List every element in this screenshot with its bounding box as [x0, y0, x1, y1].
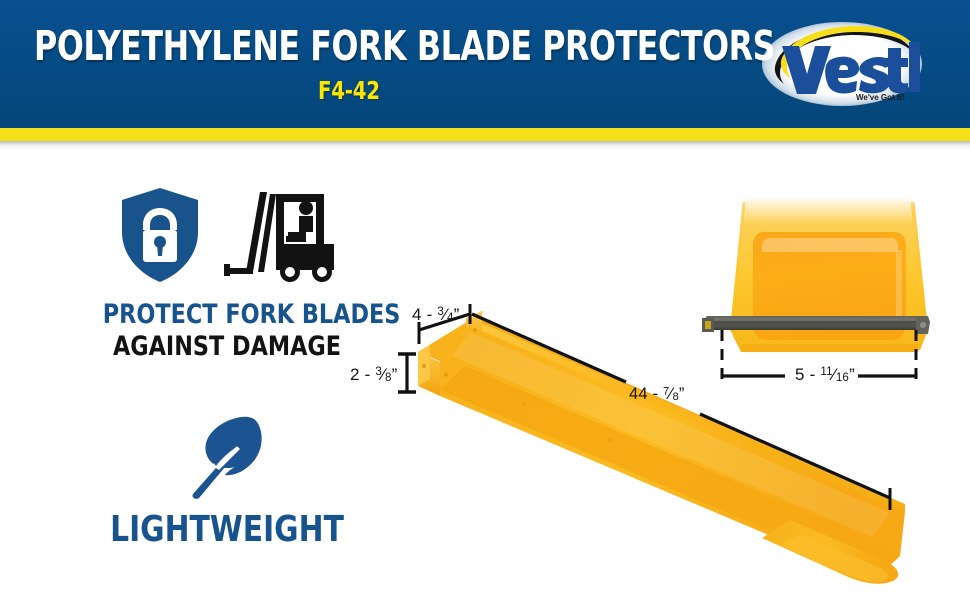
infographic-page: POLYETHYLENE FORK BLADE PROTECTORS F4-42…	[0, 0, 970, 600]
dimension-width-numerator: 3	[437, 306, 444, 318]
dimension-height-denominator: 8	[385, 372, 392, 384]
dimension-width-unit: ”	[454, 305, 460, 324]
iso-dimension-lines	[419, 304, 890, 510]
dimension-front-numerator: 11	[820, 366, 832, 378]
dimension-length-fraction: 7⁄8	[663, 385, 679, 404]
dimension-length-whole: 44 -	[629, 385, 663, 403]
height-dimension-line	[398, 354, 416, 392]
dimension-front-whole: 5 -	[795, 365, 820, 384]
dimension-front-fraction: 11⁄16	[820, 365, 849, 385]
feature-2-icons	[92, 408, 362, 500]
logo-artwork: We've Got It!	[762, 22, 922, 106]
dimension-front-unit: ”	[849, 365, 855, 384]
retaining-bar	[706, 316, 924, 330]
vestil-logo: We've Got It!	[762, 22, 922, 106]
feather-icon	[179, 412, 275, 500]
dimension-height-label: 2 - 3⁄8”	[350, 365, 398, 385]
dimension-length-denominator: 8	[672, 391, 678, 403]
page-header: POLYETHYLENE FORK BLADE PROTECTORS F4-42…	[0, 0, 970, 128]
feature-1-caption-line2: AGAINST DAMAGE	[103, 331, 351, 362]
forklift-icon	[220, 188, 336, 284]
dimension-length-unit: ”	[679, 385, 685, 403]
feature-1-caption-line1: PROTECT FORK BLADES	[103, 298, 351, 331]
logo-wordmark	[782, 42, 920, 94]
feature-1-icons	[92, 182, 362, 284]
model-number: F4-42	[318, 78, 380, 104]
dimension-height-unit: ”	[392, 365, 398, 384]
dimension-height-fraction: 3⁄8	[375, 365, 391, 385]
dimension-width-denominator: 4	[447, 312, 454, 324]
shield-lock-icon	[118, 186, 202, 284]
page-title: POLYETHYLENE FORK BLADE PROTECTORS	[34, 24, 636, 68]
dimension-width-fraction: 3⁄4	[437, 305, 453, 325]
dimension-front-denominator: 16	[836, 372, 849, 384]
feature-2-caption: LIGHTWEIGHT	[103, 510, 351, 550]
front-end-view	[702, 176, 932, 352]
dimension-height-numerator: 3	[375, 366, 382, 378]
feature-lightweight: LIGHTWEIGHT	[92, 408, 362, 550]
dimension-height-whole: 2 -	[350, 365, 375, 384]
header-shadow	[0, 141, 970, 150]
dimension-width-whole: 4 -	[412, 305, 437, 324]
dimension-length-label: 44 - 7⁄8”	[629, 385, 685, 404]
dimension-front-width-label: 5 - 11⁄16”	[795, 365, 855, 385]
header-accent-bar	[0, 128, 970, 141]
dimension-width-label: 4 - 3⁄4”	[412, 305, 460, 325]
feature-protect-fork-blades: PROTECT FORK BLADES AGAINST DAMAGE	[92, 182, 362, 362]
isometric-product-view	[418, 311, 905, 584]
logo-tagline: We've Got It!	[856, 93, 904, 102]
